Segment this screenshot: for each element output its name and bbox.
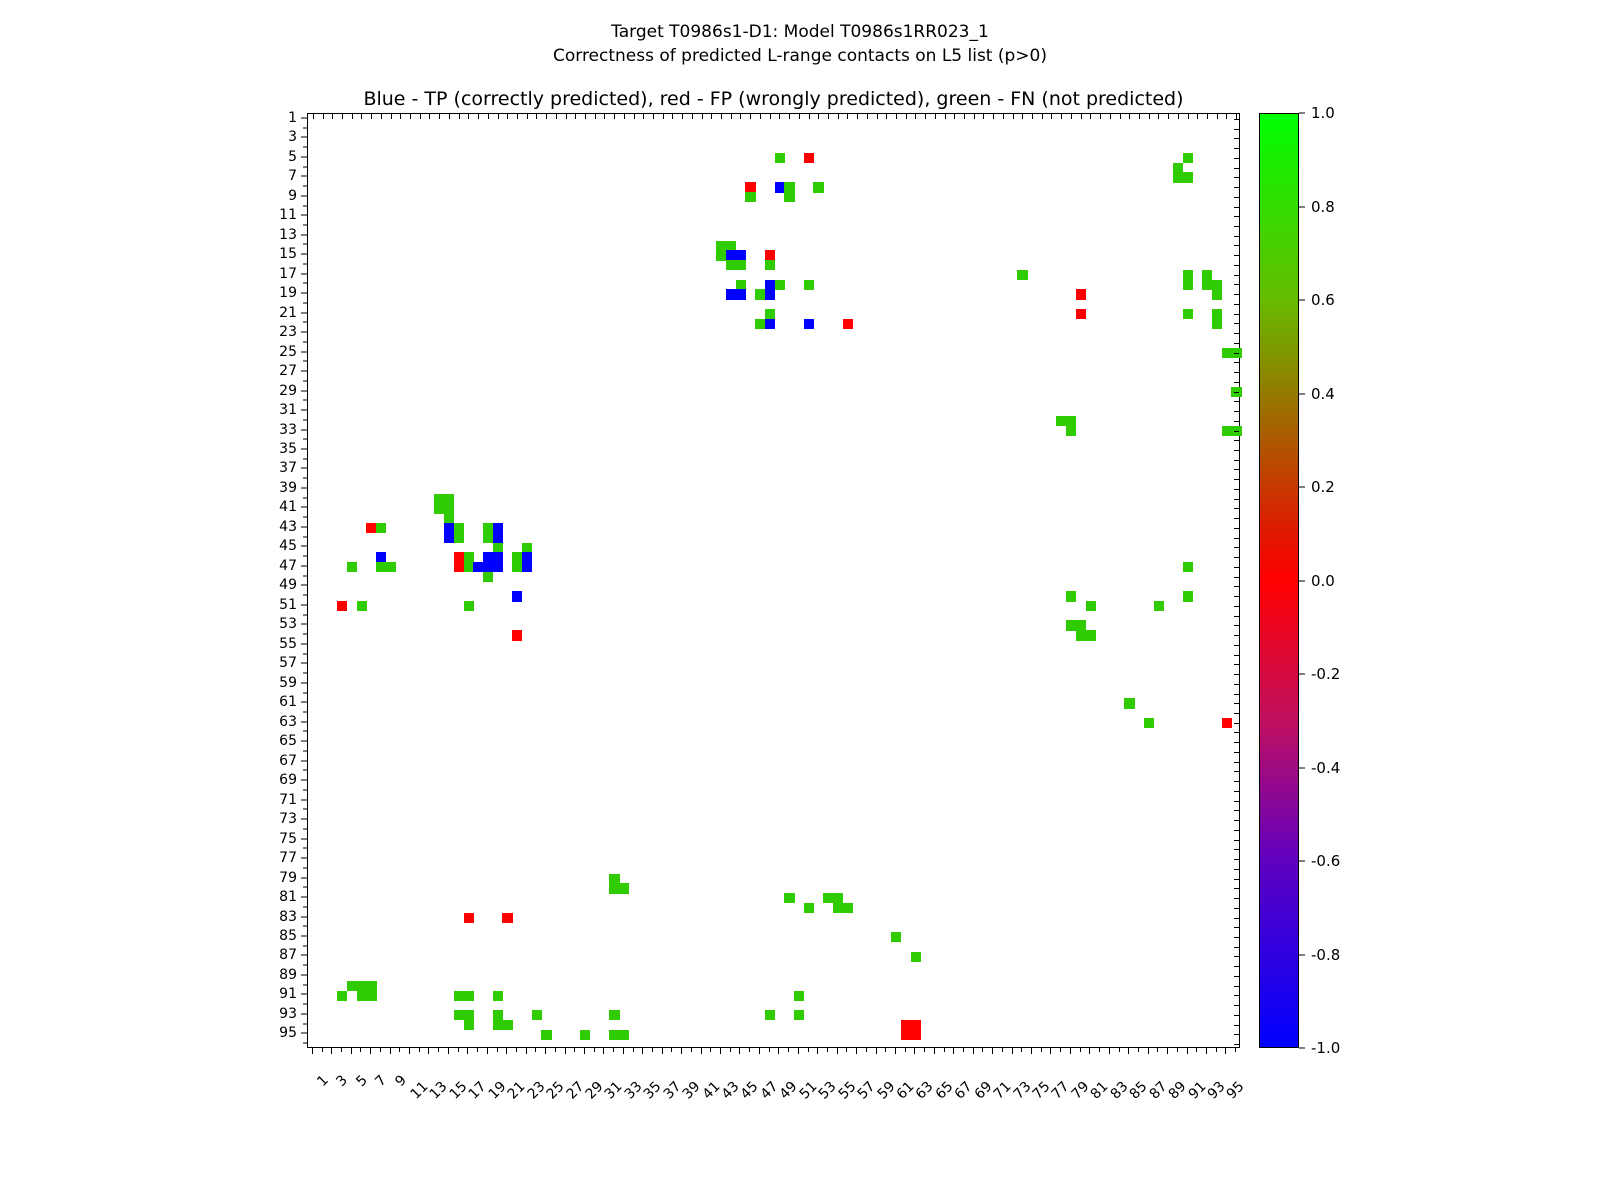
right-tick-mark — [1234, 723, 1239, 724]
colorbar-tick-label: 0.4 — [1311, 385, 1335, 403]
right-tick-mark — [1234, 138, 1239, 139]
top-tick-mark — [1110, 114, 1111, 119]
x-tick-mark — [312, 1048, 313, 1054]
x-tick-mark — [982, 1048, 983, 1052]
top-tick-mark — [585, 114, 586, 119]
colorbar-tick-label: -0.8 — [1311, 946, 1340, 964]
x-tick-label: 7 — [372, 1072, 390, 1090]
contact-cell-green — [1017, 270, 1027, 280]
right-tick-mark — [1234, 956, 1239, 957]
x-tick-mark — [458, 1048, 459, 1052]
top-tick-mark — [711, 114, 712, 119]
right-tick-mark — [1234, 460, 1239, 461]
colorbar-tick-mark — [1299, 580, 1305, 581]
top-tick-mark — [342, 114, 343, 119]
y-tick-label: 31 — [279, 402, 297, 418]
top-tick-mark — [420, 114, 421, 119]
top-tick-mark — [886, 114, 887, 119]
top-tick-mark — [1071, 114, 1072, 119]
x-tick-mark — [565, 1048, 566, 1054]
x-tick-mark — [769, 1048, 770, 1052]
top-tick-mark — [575, 114, 576, 119]
colorbar-tick-label: -0.6 — [1311, 852, 1340, 870]
x-tick-mark — [710, 1048, 711, 1052]
contact-cell-blue — [804, 319, 814, 329]
top-tick-mark — [517, 114, 518, 119]
right-tick-mark — [1234, 557, 1239, 558]
x-tick-mark — [973, 1048, 974, 1054]
y-tick-label: 23 — [279, 324, 297, 340]
right-tick-mark — [1234, 840, 1239, 841]
contact-cell-green — [619, 883, 629, 893]
x-tick-mark — [390, 1048, 391, 1054]
contact-cell-red — [1222, 718, 1232, 728]
x-tick-mark — [992, 1048, 993, 1054]
right-tick-mark — [1234, 791, 1239, 792]
x-tick-mark — [827, 1048, 828, 1052]
x-tick-mark — [1099, 1048, 1100, 1052]
top-tick-mark — [614, 114, 615, 119]
top-tick-mark — [760, 114, 761, 119]
right-tick-mark — [1234, 752, 1239, 753]
x-tick-mark — [1050, 1048, 1051, 1054]
colorbar-tick-label: -0.4 — [1311, 759, 1340, 777]
right-tick-mark — [1234, 742, 1239, 743]
x-tick-mark — [739, 1048, 740, 1054]
x-tick-mark — [1138, 1048, 1139, 1052]
right-tick-mark — [1234, 771, 1239, 772]
x-tick-mark — [526, 1048, 527, 1054]
contact-cell-green — [483, 572, 493, 582]
right-tick-mark — [1234, 372, 1239, 373]
y-tick-label: 73 — [279, 811, 297, 827]
contact-cell-green — [1183, 153, 1193, 163]
contact-cell-green — [493, 991, 503, 1001]
x-tick-mark — [409, 1048, 410, 1054]
right-tick-mark — [1234, 606, 1239, 607]
contact-cell-red — [502, 913, 512, 923]
top-tick-mark — [954, 114, 955, 119]
y-tick-label: 19 — [279, 285, 297, 301]
top-tick-mark — [1149, 114, 1150, 119]
top-tick-mark — [1081, 114, 1082, 119]
x-tick-mark — [497, 1048, 498, 1052]
colorbar-tick-mark — [1299, 954, 1305, 955]
right-tick-mark — [1234, 158, 1239, 159]
right-tick-mark — [1234, 713, 1239, 714]
y-tick-label: 1 — [288, 110, 297, 126]
right-tick-mark — [1234, 976, 1239, 977]
top-tick-mark — [945, 114, 946, 119]
contact-map-plot[interactable] — [307, 113, 1240, 1048]
contact-cell-green — [357, 601, 367, 611]
x-tick-mark — [1021, 1048, 1022, 1052]
top-tick-mark — [682, 114, 683, 119]
x-axis: 1357911131517192123252729313335373941434… — [307, 1048, 1240, 1198]
colorbar-tick-mark — [1299, 206, 1305, 207]
right-tick-mark — [1234, 703, 1239, 704]
top-tick-mark — [1022, 114, 1023, 119]
colorbar-tick-label: -0.2 — [1311, 665, 1340, 683]
x-tick-mark — [341, 1048, 342, 1052]
contact-cell-red — [843, 319, 853, 329]
right-tick-mark — [1234, 927, 1239, 928]
y-tick-label: 5 — [288, 149, 297, 165]
right-tick-mark — [1234, 314, 1239, 315]
x-tick-mark — [419, 1048, 420, 1052]
right-tick-mark — [1234, 508, 1239, 509]
right-tick-mark — [1234, 547, 1239, 548]
right-tick-mark — [1234, 849, 1239, 850]
contact-cell-green — [1183, 172, 1193, 182]
x-tick-mark — [1235, 1048, 1236, 1052]
right-tick-mark — [1234, 294, 1239, 295]
y-tick-label: 95 — [279, 1025, 297, 1041]
right-tick-mark — [1234, 197, 1239, 198]
x-tick-mark — [856, 1048, 857, 1054]
right-tick-mark — [1234, 732, 1239, 733]
x-tick-mark — [730, 1048, 731, 1052]
x-tick-mark — [759, 1048, 760, 1054]
top-tick-mark — [915, 114, 916, 119]
contact-cell-green — [1086, 630, 1096, 640]
right-tick-mark — [1234, 216, 1239, 217]
y-tick-label: 47 — [279, 558, 297, 574]
x-tick-mark — [1041, 1048, 1042, 1052]
contact-cell-green — [464, 1020, 474, 1030]
colorbar-tick-mark — [1299, 393, 1305, 394]
x-tick-mark — [1177, 1048, 1178, 1052]
x-tick-mark — [681, 1048, 682, 1054]
top-tick-mark — [731, 114, 732, 119]
colorbar-tick-mark — [1299, 300, 1305, 301]
contact-cell-green — [376, 523, 386, 533]
right-tick-mark — [1234, 898, 1239, 899]
right-tick-mark — [1234, 664, 1239, 665]
y-tick-label: 41 — [279, 499, 297, 515]
right-tick-mark — [1234, 966, 1239, 967]
x-tick-mark — [924, 1048, 925, 1052]
right-tick-mark — [1234, 450, 1239, 451]
top-tick-mark — [1139, 114, 1140, 119]
right-tick-mark — [1234, 323, 1239, 324]
x-tick-mark — [322, 1048, 323, 1052]
contact-cell-green — [1066, 426, 1076, 436]
contact-cell-green — [736, 260, 746, 270]
right-tick-mark — [1234, 479, 1239, 480]
suptitle-line-1: Target T0986s1-D1: Model T0986s1RR023_1 — [0, 20, 1600, 44]
x-tick-mark — [885, 1048, 886, 1052]
contact-cell-blue — [522, 562, 532, 572]
y-tick-label: 49 — [279, 577, 297, 593]
top-tick-mark — [653, 114, 654, 119]
top-tick-mark — [449, 114, 450, 119]
x-tick-mark — [720, 1048, 721, 1054]
top-tick-mark — [488, 114, 489, 119]
x-tick-mark — [817, 1048, 818, 1054]
contact-map-cells — [308, 114, 1239, 1047]
y-tick-label: 57 — [279, 655, 297, 671]
contact-cell-blue — [493, 562, 503, 572]
top-tick-mark — [1226, 114, 1227, 119]
x-tick-mark — [1148, 1048, 1149, 1054]
y-tick-label: 81 — [279, 889, 297, 905]
right-tick-mark — [1234, 1025, 1239, 1026]
top-tick-mark — [1090, 114, 1091, 119]
x-tick-mark — [778, 1048, 779, 1054]
top-tick-mark — [566, 114, 567, 119]
y-tick-label: 37 — [279, 460, 297, 476]
x-tick-mark — [613, 1048, 614, 1052]
x-tick-mark — [876, 1048, 877, 1054]
contact-cell-green — [1183, 280, 1193, 290]
top-tick-mark — [983, 114, 984, 119]
contact-cell-green — [1144, 718, 1154, 728]
y-tick-label: 59 — [279, 675, 297, 691]
top-tick-mark — [1120, 114, 1121, 119]
x-tick-mark — [837, 1048, 838, 1054]
colorbar-tick-label: 1.0 — [1311, 104, 1335, 122]
x-tick-mark — [1187, 1048, 1188, 1054]
y-tick-label: 77 — [279, 850, 297, 866]
y-tick-label: 51 — [279, 597, 297, 613]
top-tick-mark — [527, 114, 528, 119]
right-tick-mark — [1234, 129, 1239, 130]
top-tick-mark — [371, 114, 372, 119]
y-tick-label: 67 — [279, 753, 297, 769]
x-tick-mark — [1070, 1048, 1071, 1054]
right-tick-mark — [1234, 518, 1239, 519]
top-tick-mark — [1013, 114, 1014, 119]
x-tick-mark — [535, 1048, 536, 1052]
contact-cell-green — [502, 1020, 512, 1030]
x-tick-mark — [642, 1048, 643, 1054]
top-tick-mark — [546, 114, 547, 119]
right-tick-mark — [1234, 431, 1239, 432]
right-tick-mark — [1234, 207, 1239, 208]
top-tick-mark — [896, 114, 897, 119]
right-tick-mark — [1234, 908, 1239, 909]
contact-cell-green — [843, 903, 853, 913]
right-tick-mark — [1234, 168, 1239, 169]
contact-cell-green — [532, 1010, 542, 1020]
y-tick-label: 21 — [279, 305, 297, 321]
contact-cell-green — [1154, 601, 1164, 611]
y-tick-label: 89 — [279, 967, 297, 983]
x-tick-mark — [506, 1048, 507, 1054]
contact-cell-green — [813, 182, 823, 192]
right-tick-mark — [1234, 1034, 1239, 1035]
top-tick-mark — [750, 114, 751, 119]
contact-cell-green — [1086, 601, 1096, 611]
contact-cell-red — [804, 153, 814, 163]
colorbar-tick-mark — [1299, 113, 1305, 114]
right-tick-mark — [1234, 265, 1239, 266]
right-tick-mark — [1234, 918, 1239, 919]
x-tick-mark — [1060, 1048, 1061, 1052]
right-tick-mark — [1234, 645, 1239, 646]
top-tick-mark — [1042, 114, 1043, 119]
x-tick-mark — [662, 1048, 663, 1054]
colorbar-tick-mark — [1299, 861, 1305, 862]
x-tick-mark — [788, 1048, 789, 1052]
x-tick-mark — [380, 1048, 381, 1052]
right-tick-mark — [1234, 362, 1239, 363]
top-tick-mark — [361, 114, 362, 119]
right-tick-mark — [1234, 353, 1239, 354]
right-tick-mark — [1234, 538, 1239, 539]
right-tick-mark — [1234, 187, 1239, 188]
y-tick-label: 27 — [279, 363, 297, 379]
x-tick-label: 95 — [1224, 1079, 1248, 1103]
top-tick-mark — [468, 114, 469, 119]
top-tick-mark — [634, 114, 635, 119]
contact-cell-green — [1183, 562, 1193, 572]
x-tick-mark — [467, 1048, 468, 1054]
contact-cell-green — [1222, 348, 1232, 358]
contact-cell-green — [337, 991, 347, 1001]
contact-cell-red — [911, 1030, 921, 1040]
contact-cell-green — [347, 562, 357, 572]
y-tick-label: 9 — [288, 188, 297, 204]
top-tick-mark — [381, 114, 382, 119]
contact-cell-red — [512, 630, 522, 640]
x-tick-label: 3 — [334, 1072, 352, 1090]
top-tick-mark — [1188, 114, 1189, 119]
right-tick-mark — [1234, 401, 1239, 402]
y-tick-label: 17 — [279, 266, 297, 282]
right-tick-mark — [1234, 810, 1239, 811]
right-tick-mark — [1234, 119, 1239, 120]
x-tick-mark — [934, 1048, 935, 1054]
contact-cell-green — [464, 991, 474, 1001]
right-tick-mark — [1234, 499, 1239, 500]
x-tick-mark — [944, 1048, 945, 1052]
y-tick-label: 85 — [279, 928, 297, 944]
x-tick-mark — [953, 1048, 954, 1054]
right-tick-mark — [1234, 177, 1239, 178]
x-tick-mark — [438, 1048, 439, 1052]
top-tick-mark — [877, 114, 878, 119]
x-tick-mark — [545, 1048, 546, 1054]
contact-cell-green — [804, 280, 814, 290]
top-tick-mark — [459, 114, 460, 119]
y-tick-label: 3 — [288, 129, 297, 145]
x-tick-mark — [1080, 1048, 1081, 1052]
x-tick-mark — [1031, 1048, 1032, 1054]
top-tick-mark — [1178, 114, 1179, 119]
x-tick-mark — [905, 1048, 906, 1052]
colorbar-tick-label: 0.0 — [1311, 572, 1335, 590]
right-tick-mark — [1234, 469, 1239, 470]
contact-cell-green — [1183, 309, 1193, 319]
top-tick-mark — [672, 114, 673, 119]
x-tick-mark — [428, 1048, 429, 1054]
right-tick-mark — [1234, 284, 1239, 285]
contact-cell-green — [745, 192, 755, 202]
x-tick-mark — [477, 1048, 478, 1052]
right-tick-mark — [1234, 625, 1239, 626]
contact-cell-green — [1212, 289, 1222, 299]
contact-cell-red — [337, 601, 347, 611]
x-tick-mark — [846, 1048, 847, 1052]
right-tick-mark — [1234, 333, 1239, 334]
contact-cell-green — [784, 893, 794, 903]
right-tick-mark — [1234, 440, 1239, 441]
top-tick-mark — [974, 114, 975, 119]
x-tick-mark — [914, 1048, 915, 1054]
y-tick-label: 63 — [279, 714, 297, 730]
x-tick-mark — [895, 1048, 896, 1054]
contact-cell-red — [1076, 309, 1086, 319]
top-tick-mark — [838, 114, 839, 119]
contact-cell-green — [775, 153, 785, 163]
colorbar — [1259, 113, 1299, 1048]
top-tick-mark — [740, 114, 741, 119]
contact-cell-green — [1212, 319, 1222, 329]
x-tick-mark — [1206, 1048, 1207, 1054]
y-tick-label: 7 — [288, 168, 297, 184]
top-tick-mark — [799, 114, 800, 119]
right-tick-mark — [1234, 586, 1239, 587]
top-tick-mark — [925, 114, 926, 119]
top-tick-mark — [906, 114, 907, 119]
figure-suptitle: Target T0986s1-D1: Model T0986s1RR023_1 … — [0, 20, 1600, 68]
top-tick-mark — [604, 114, 605, 119]
right-tick-mark — [1234, 382, 1239, 383]
y-tick-label: 65 — [279, 733, 297, 749]
contact-cell-green — [454, 533, 464, 543]
right-tick-mark — [1234, 616, 1239, 617]
x-tick-mark — [798, 1048, 799, 1054]
x-tick-mark — [1089, 1048, 1090, 1054]
contact-cell-green — [366, 991, 376, 1001]
x-tick-mark — [1119, 1048, 1120, 1052]
right-tick-mark — [1234, 226, 1239, 227]
top-tick-mark — [1061, 114, 1062, 119]
y-tick-label: 35 — [279, 441, 297, 457]
top-tick-mark — [721, 114, 722, 119]
x-tick-mark — [360, 1048, 361, 1052]
right-tick-mark — [1234, 947, 1239, 948]
x-tick-mark — [574, 1048, 575, 1052]
right-tick-mark — [1234, 275, 1239, 276]
colorbar-tick-label: 0.6 — [1311, 291, 1335, 309]
right-tick-mark — [1234, 986, 1239, 987]
y-tick-label: 61 — [279, 694, 297, 710]
top-tick-mark — [1100, 114, 1101, 119]
contact-cell-blue — [765, 319, 775, 329]
top-tick-mark — [789, 114, 790, 119]
top-tick-mark — [1003, 114, 1004, 119]
right-tick-mark — [1234, 655, 1239, 656]
right-tick-mark — [1234, 937, 1239, 938]
top-tick-mark — [391, 114, 392, 119]
x-tick-label: 9 — [392, 1072, 410, 1090]
contact-cell-green — [784, 192, 794, 202]
top-tick-mark — [352, 114, 353, 119]
x-tick-mark — [633, 1048, 634, 1052]
right-tick-mark — [1234, 859, 1239, 860]
top-tick-mark — [323, 114, 324, 119]
y-tick-label: 39 — [279, 480, 297, 496]
y-tick-label: 83 — [279, 909, 297, 925]
right-tick-mark — [1234, 255, 1239, 256]
top-tick-mark — [595, 114, 596, 119]
colorbar-tick-mark — [1299, 767, 1305, 768]
contact-cell-green — [765, 260, 775, 270]
right-tick-mark — [1234, 635, 1239, 636]
